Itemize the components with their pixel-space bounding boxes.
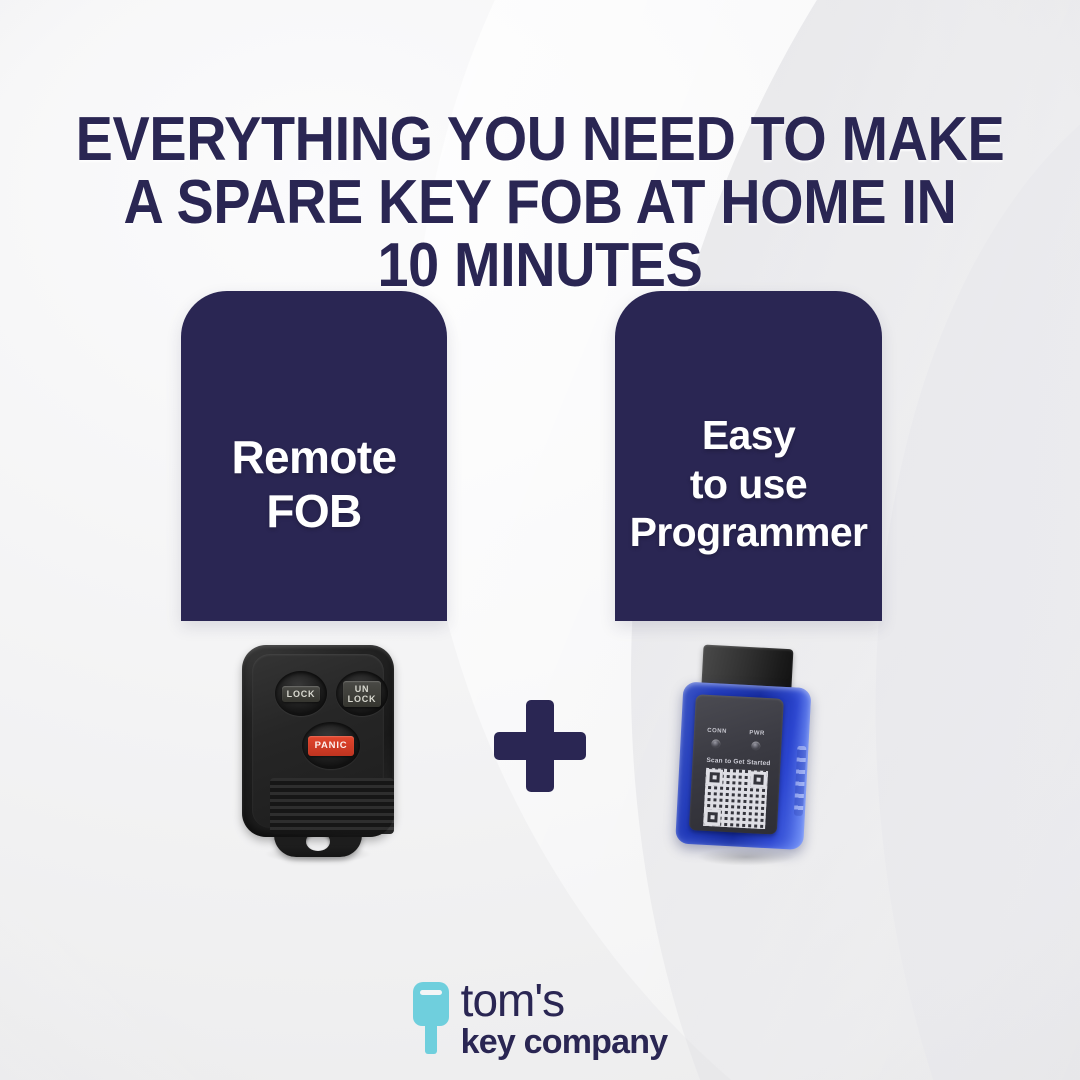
qr-eye-top-right: [750, 771, 767, 788]
programmer-pwr-led: [751, 741, 760, 750]
key-fob-panic-label: PANIC: [315, 741, 348, 751]
programmer-body: CONN PWR Scan to Get Started: [675, 682, 811, 850]
qr-eye-top-left: [706, 769, 723, 786]
key-icon-slot: [420, 990, 442, 995]
programmer-pwr-label: PWR: [744, 730, 770, 737]
key-fob-lock-button: LOCK: [275, 671, 327, 716]
card-programmer: Easy to use Programmer: [615, 291, 882, 621]
brand-name-key-company: key company: [461, 1025, 668, 1059]
card-remote-fob: Remote FOB: [181, 291, 447, 621]
brand-logo: tom's key company: [0, 976, 1080, 1060]
programmer-qr-code: [703, 768, 768, 829]
key-fob-unlock-button: UN LOCK: [336, 671, 388, 716]
programmer-face-plate: CONN PWR Scan to Get Started: [689, 694, 784, 834]
programmer-scan-text: Scan to Get Started: [700, 757, 776, 768]
brand-name-toms: tom's: [461, 977, 668, 1023]
card-programmer-line-1: Easy: [630, 411, 868, 459]
key-fob-unlock-label-2: LOCK: [348, 694, 377, 704]
key-icon: [413, 982, 449, 1054]
qr-eye-bottom-left: [704, 809, 721, 826]
headline-line-2: A SPARE KEY FOB AT HOME IN: [54, 171, 1026, 234]
card-programmer-text: Easy to use Programmer: [630, 355, 868, 556]
key-fob-grip-ribs: [270, 778, 394, 834]
brand-logo-text: tom's key company: [461, 977, 668, 1059]
promo-graphic: EVERYTHING YOU NEED TO MAKE A SPARE KEY …: [0, 0, 1080, 1080]
key-fob-panic-pad: PANIC: [308, 736, 355, 756]
page-title: EVERYTHING YOU NEED TO MAKE A SPARE KEY …: [54, 108, 1026, 297]
plus-horizontal-bar: [494, 732, 586, 760]
key-fob-lock-pad: LOCK: [282, 686, 321, 702]
key-fob-lock-label: LOCK: [287, 689, 316, 699]
programmer-tilt-wrapper: CONN PWR Scan to Get Started: [666, 641, 827, 864]
headline-line-1: EVERYTHING YOU NEED TO MAKE: [54, 108, 1026, 171]
key-fob-unlock-pad: UN LOCK: [343, 681, 382, 707]
programmer-side-ridges: [794, 746, 807, 816]
card-programmer-line-2: to use: [630, 460, 868, 508]
key-icon-head: [413, 982, 449, 1026]
key-fob-panic-button: PANIC: [302, 722, 360, 769]
headline-line-3: 10 MINUTES: [54, 234, 1026, 297]
programmer-image: CONN PWR Scan to Get Started: [672, 645, 822, 870]
key-fob-inner-face: LOCK UN LOCK PANIC: [252, 654, 384, 828]
key-fob-unlock-label-1: UN: [348, 684, 377, 694]
programmer-conn-led: [711, 739, 720, 748]
key-fob-image: LOCK UN LOCK PANIC: [238, 645, 398, 870]
card-remote-fob-line-2: FOB: [231, 484, 396, 538]
plus-icon: [494, 700, 586, 792]
card-programmer-line-3: Programmer: [630, 508, 868, 556]
card-remote-fob-line-1: Remote: [231, 430, 396, 484]
programmer-conn-label: CONN: [704, 728, 730, 735]
card-remote-fob-text: Remote FOB: [231, 374, 396, 539]
key-fob-body: LOCK UN LOCK PANIC: [242, 645, 394, 837]
key-icon-shaft: [425, 1022, 437, 1054]
